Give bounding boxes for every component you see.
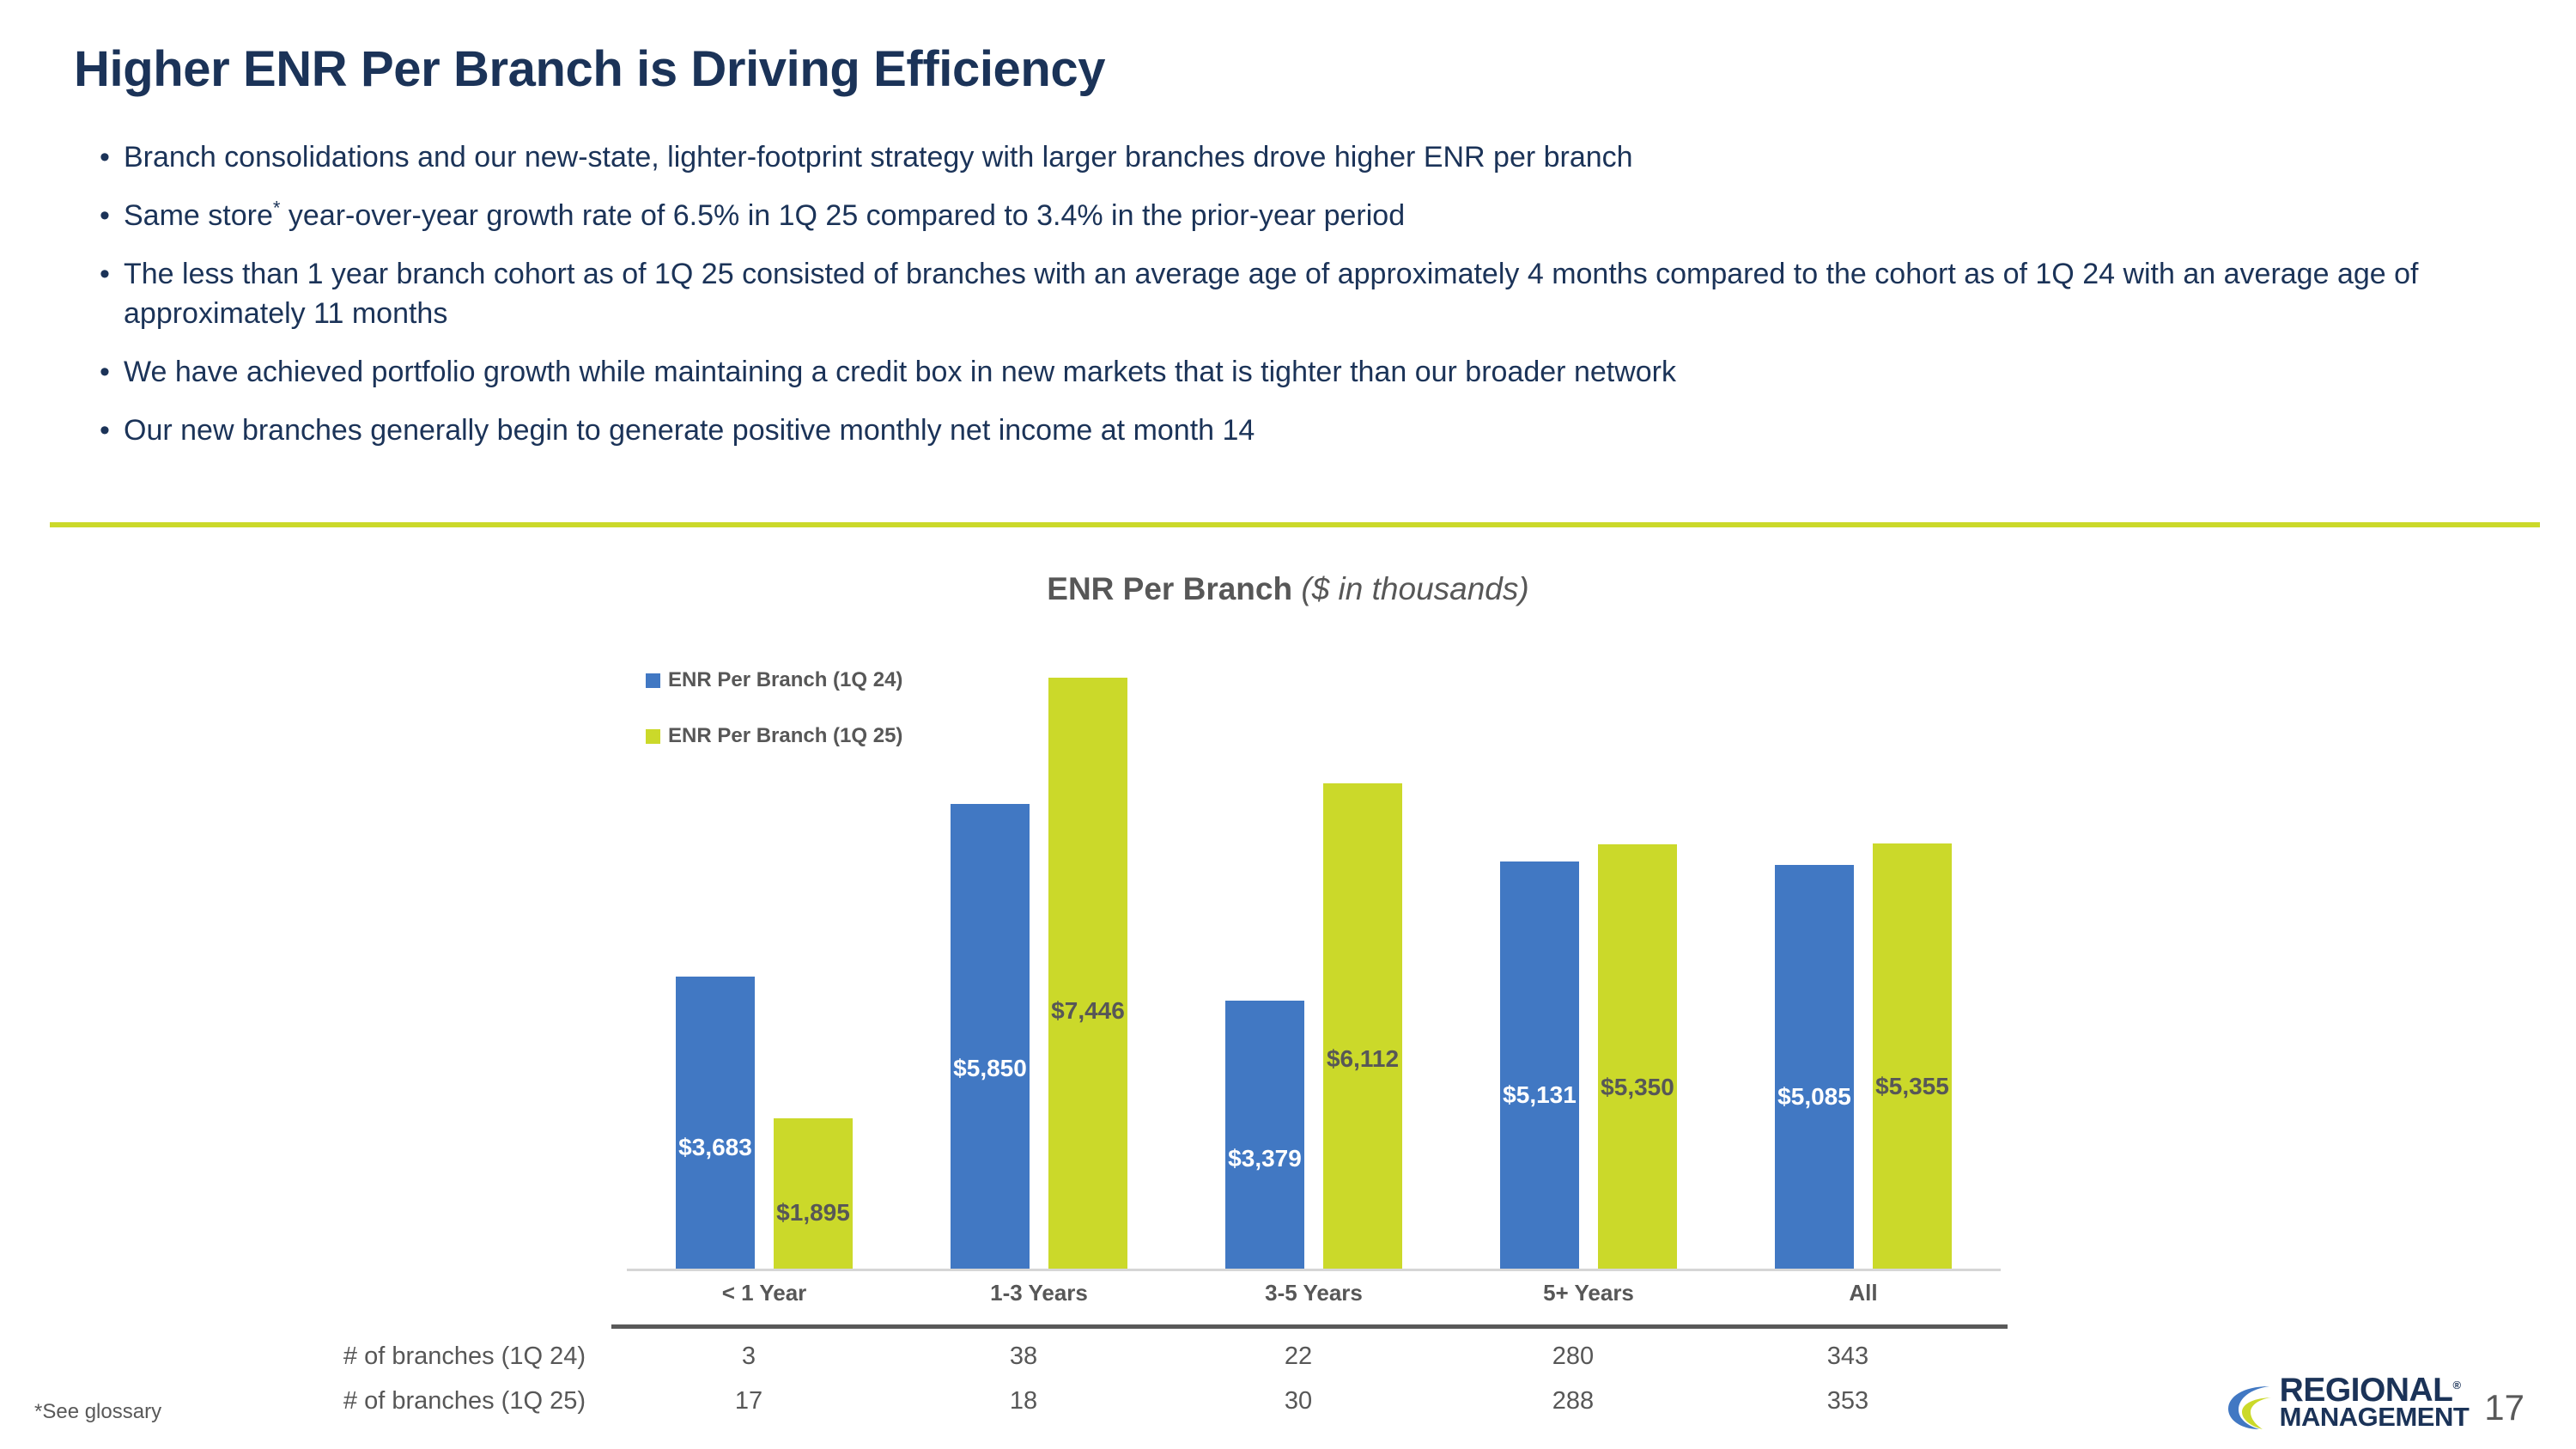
bar-1q25[interactable]: $6,112 <box>1323 783 1402 1269</box>
list-item: • Same store* year-over-year growth rate… <box>94 196 2516 235</box>
table-cell: 353 <box>1710 1387 1985 1416</box>
legend-swatch-icon <box>646 729 660 744</box>
bullet-text: We have achieved portfolio growth while … <box>124 352 1676 392</box>
list-item: • We have achieved portfolio growth whil… <box>94 352 2516 392</box>
bar-value-label: $5,085 <box>1775 1083 1854 1111</box>
legend-item-1q25: ENR Per Branch (1Q 25) <box>646 724 902 748</box>
logo-line-management: MANAGEMENT <box>2280 1405 2470 1430</box>
chart-title-subtitle: ($ in thousands) <box>1301 571 1528 606</box>
bar-1q24[interactable]: $3,683 <box>676 977 755 1269</box>
table-row-label: # of branches (1Q 24) <box>0 1342 611 1371</box>
chart-title: ENR Per Branch ($ in thousands) <box>0 571 2576 607</box>
bar-1q25[interactable]: $5,355 <box>1873 843 1952 1269</box>
bar-1q24[interactable]: $5,131 <box>1500 861 1579 1269</box>
brand-logo: REGIONAL® MANAGEMENT 17 <box>2225 1375 2524 1430</box>
table-cell: 30 <box>1161 1387 1436 1416</box>
table-cell: 280 <box>1436 1342 1710 1371</box>
chart-axis-line <box>627 1269 2001 1271</box>
bar-value-label: $5,355 <box>1873 1073 1952 1100</box>
branch-count-table: # of branches (1Q 24)33822280343# of bra… <box>0 1334 2061 1423</box>
bullet-text-after: year-over-year growth rate of 6.5% in 1Q… <box>280 199 1405 232</box>
bullet-text-before: Same store <box>124 199 273 232</box>
chart-category-label: < 1 Year <box>627 1280 902 1306</box>
table-cell: 343 <box>1710 1342 1985 1371</box>
bullet-dot-icon: • <box>94 254 124 294</box>
bar-value-label: $3,379 <box>1225 1145 1304 1172</box>
table-row-cells: 33822280343 <box>611 1342 1985 1371</box>
table-cell: 22 <box>1161 1342 1436 1371</box>
footnote: *See glossary <box>34 1400 161 1424</box>
table-cell: 17 <box>611 1387 886 1416</box>
table-cell: 288 <box>1436 1387 1710 1416</box>
table-top-rule <box>611 1324 2008 1329</box>
bar-value-label: $5,350 <box>1598 1074 1677 1101</box>
chart-category-labels: < 1 Year1-3 Years3-5 Years5+ YearsAll <box>627 1280 2001 1306</box>
bar-1q25[interactable]: $1,895 <box>774 1118 853 1269</box>
bullet-text: Branch consolidations and our new-state,… <box>124 137 1633 177</box>
bullet-list: • Branch consolidations and our new-stat… <box>94 137 2516 469</box>
chart-category-label: All <box>1726 1280 2001 1306</box>
bullet-text: Our new branches generally begin to gene… <box>124 411 1255 450</box>
chart-category-label: 3-5 Years <box>1176 1280 1451 1306</box>
table-cell: 3 <box>611 1342 886 1371</box>
table-row: # of branches (1Q 24)33822280343 <box>0 1334 2061 1379</box>
legend-label: ENR Per Branch (1Q 24) <box>668 668 902 692</box>
list-item: • Our new branches generally begin to ge… <box>94 411 2516 450</box>
chart-legend: ENR Per Branch (1Q 24) ENR Per Branch (1… <box>646 668 902 780</box>
table-row-cells: 171830288353 <box>611 1387 1985 1416</box>
chart-title-main: ENR Per Branch <box>1047 571 1292 606</box>
bullet-dot-icon: • <box>94 411 124 450</box>
bar-value-label: $3,683 <box>676 1134 755 1161</box>
bar-value-label: $5,850 <box>951 1055 1030 1082</box>
registered-trademark-icon: ® <box>2453 1379 2461 1391</box>
logo-line-regional: REGIONAL® <box>2280 1375 2470 1406</box>
bar-1q24[interactable]: $5,085 <box>1775 865 1854 1269</box>
table-row: # of branches (1Q 25)171830288353 <box>0 1379 2061 1423</box>
regional-management-swoosh-icon <box>2225 1380 2278 1434</box>
section-divider <box>50 522 2540 527</box>
bar-1q24[interactable]: $3,379 <box>1225 1001 1304 1269</box>
table-cell: 38 <box>886 1342 1161 1371</box>
legend-swatch-icon <box>646 673 660 688</box>
list-item: • The less than 1 year branch cohort as … <box>94 254 2516 333</box>
chart-category-label: 1-3 Years <box>902 1280 1176 1306</box>
bullet-text: Same store* year-over-year growth rate o… <box>124 196 1405 235</box>
bullet-dot-icon: • <box>94 352 124 392</box>
chart-category-label: 5+ Years <box>1451 1280 1726 1306</box>
page-title: Higher ENR Per Branch is Driving Efficie… <box>74 40 1105 98</box>
bar-value-label: $7,446 <box>1048 997 1127 1025</box>
bar-1q25[interactable]: $5,350 <box>1598 844 1677 1269</box>
bullet-text: The less than 1 year branch cohort as of… <box>124 254 2442 333</box>
list-item: • Branch consolidations and our new-stat… <box>94 137 2516 177</box>
bullet-dot-icon: • <box>94 137 124 177</box>
bar-value-label: $1,895 <box>774 1199 853 1227</box>
bar-value-label: $5,131 <box>1500 1081 1579 1109</box>
page-number: 17 <box>2484 1387 2524 1428</box>
bar-value-label: $6,112 <box>1323 1045 1402 1073</box>
logo-wordmark: REGIONAL® MANAGEMENT <box>2280 1375 2470 1430</box>
legend-item-1q24: ENR Per Branch (1Q 24) <box>646 668 902 692</box>
table-cell: 18 <box>886 1387 1161 1416</box>
legend-label: ENR Per Branch (1Q 25) <box>668 724 902 748</box>
bullet-dot-icon: • <box>94 196 124 235</box>
bar-1q24[interactable]: $5,850 <box>951 804 1030 1269</box>
bar-1q25[interactable]: $7,446 <box>1048 678 1127 1269</box>
